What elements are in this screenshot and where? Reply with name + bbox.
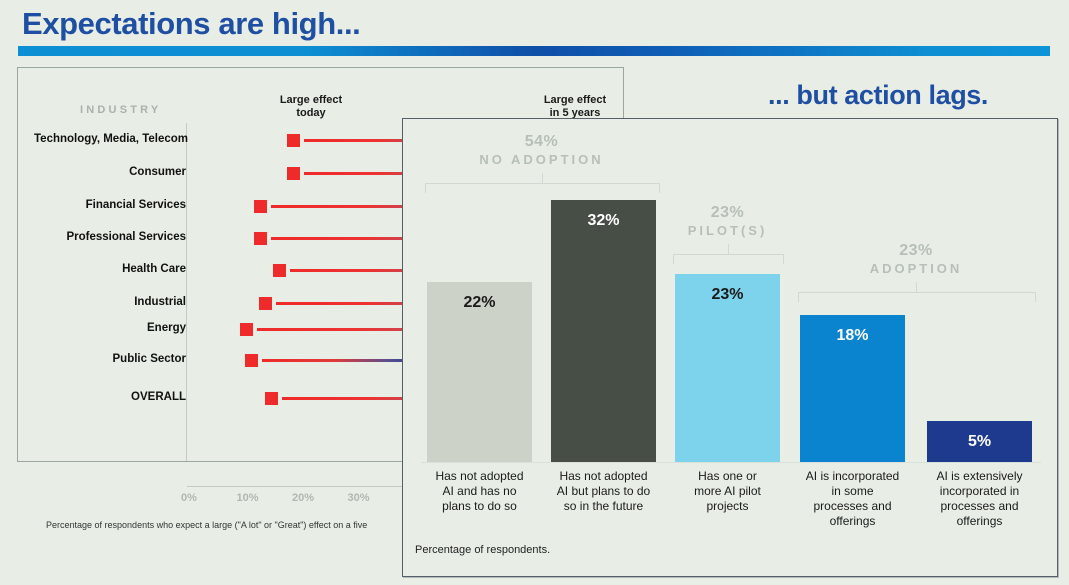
bar-category-label: AI is extensivelyincorporated inprocesse… [917,469,1042,529]
bar-value-label: 18% [800,327,905,345]
right-footnote: Percentage of respondents. [415,544,550,556]
group-bracket [798,292,1036,302]
industry-row-label: Technology, Media, Telecom [34,133,186,145]
industry-connector-line [271,205,424,208]
bar-category-label: AI is incorporatedin someprocesses andof… [790,469,915,529]
group-label: NO ADOPTION [412,152,672,167]
bar-4: 18% [800,315,905,462]
industry-row-label: Public Sector [34,353,186,365]
industry-today-marker [240,323,253,336]
bar-category-label-line: Has not adopted [541,469,666,484]
bar-category-label-line: so in the future [541,499,666,514]
bar-category-label: Has not adoptedAI but plans to doso in t… [541,469,666,514]
industry-today-marker [259,297,272,310]
bar-value-label: 5% [927,433,1032,451]
industry-today-marker [287,134,300,147]
bar-category-label-line: in some [790,484,915,499]
bar-category-label-line: processes and [790,499,915,514]
group-annotation: 54%NO ADOPTION [412,133,672,167]
column-header-5years: Large effect in 5 years [518,94,632,120]
industry-row-label: Health Care [34,263,186,275]
title-divider [18,46,1050,56]
page-title: Expectations are high... [22,6,360,42]
bar-1: 22% [427,282,532,462]
industry-row-label: Professional Services [34,231,186,243]
bar-category-label: Has not adoptedAI and has noplans to do … [417,469,542,514]
bar-category-label-line: AI is extensively [917,469,1042,484]
industry-today-marker [265,392,278,405]
x-axis-tick-label: 10% [237,492,259,504]
left-footnote: Percentage of respondents who expect a l… [46,520,367,530]
column-header-5years-line1: Large effect [518,94,632,107]
bar-category-label-line: plans to do so [417,499,542,514]
column-header-today-line1: Large effect [258,94,364,107]
x-axis-line [187,486,425,487]
industry-today-marker [245,354,258,367]
industry-today-marker [273,264,286,277]
bar-category-label-line: more AI pilot [665,484,790,499]
industry-row-label: Energy [34,322,186,334]
x-axis-tick-label: 30% [348,492,370,504]
bar-value-label: 23% [675,286,780,304]
industry-connector-line [262,359,424,362]
industry-row-label: Financial Services [34,199,186,211]
group-bracket-stem [542,173,543,183]
x-axis-tick-label: 0% [181,492,197,504]
slide-canvas: Expectations are high... INDUSTRY Large … [0,0,1069,585]
bar-5: 5% [927,421,1032,462]
group-label: ADOPTION [786,261,1046,276]
bar-category-label-line: offerings [790,514,915,529]
industry-row-label: OVERALL [34,391,186,403]
bar-category-label-line: incorporated in [917,484,1042,499]
industry-connector-line [271,237,424,240]
bar-value-label: 32% [551,212,656,230]
row-label-divider [186,123,187,461]
industry-row-label: Consumer [34,166,186,178]
bar-category-label-line: AI but plans to do [541,484,666,499]
right-chart-panel: 54%NO ADOPTION23%PILOT(S)23%ADOPTION 22%… [402,118,1058,577]
group-bracket-stem [916,282,917,292]
industry-today-marker [254,200,267,213]
bar-3: 23% [675,274,780,462]
bar-category-label-line: AI and has no [417,484,542,499]
bar-category-label-line: Has one or [665,469,790,484]
x-axis-tick-label: 20% [292,492,314,504]
column-header-today: Large effect today [258,94,364,120]
industry-label-column: Technology, Media, TelecomConsumerFinanc… [26,68,186,461]
bar-category-label-line: Has not adopted [417,469,542,484]
group-bracket [425,183,660,193]
bar-category-label: Has one ormore AI pilotprojects [665,469,790,514]
bar-value-label: 22% [427,294,532,312]
industry-today-marker [254,232,267,245]
bar-category-label-line: projects [665,499,790,514]
group-bracket-stem [728,244,729,254]
bar-baseline [421,462,1041,463]
bar-category-label-line: offerings [917,514,1042,529]
bar-2: 32% [551,200,656,462]
group-annotation: 23%ADOPTION [786,242,1046,276]
industry-today-marker [287,167,300,180]
page-title-secondary: ... but action lags. [768,80,988,111]
industry-row-label: Industrial [34,296,186,308]
industry-connector-line [257,328,424,331]
group-percent: 23% [786,242,1046,260]
group-bracket [673,254,784,264]
bar-category-label-line: processes and [917,499,1042,514]
bar-category-label-line: AI is incorporated [790,469,915,484]
column-header-today-line2: today [258,107,364,120]
group-percent: 54% [412,133,672,151]
